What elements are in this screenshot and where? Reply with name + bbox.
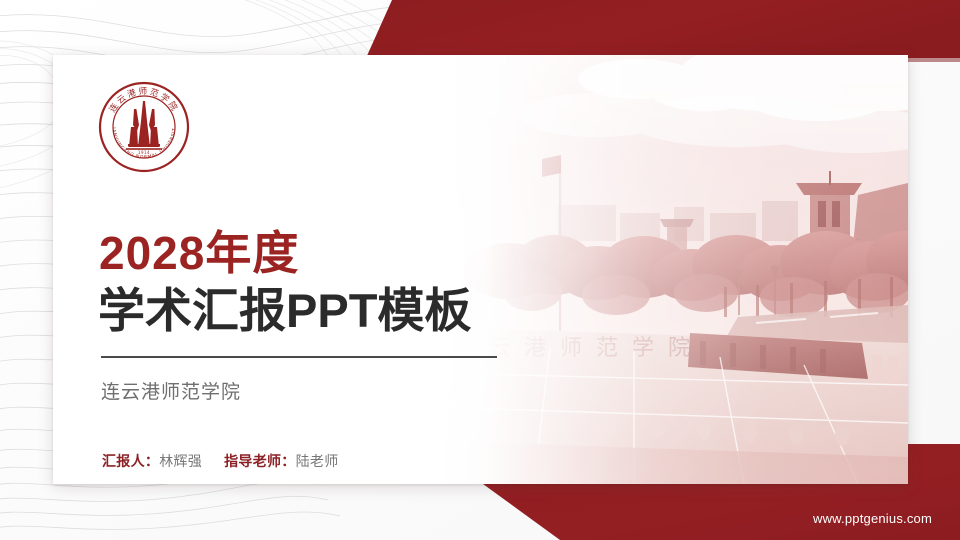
slide-content-card: 连云港师范学院 [53,55,908,484]
title-year: 2028年度 [99,230,299,276]
title-divider [101,356,497,358]
footer-website-url[interactable]: www.pptgenius.com [813,511,932,526]
university-logo-icon: 连云港师范学院 LIANYUNGANG NORMAL UNIVERSITY 19… [98,81,190,173]
credits-line: 汇报人：林辉强指导老师：陆老师 [102,451,339,471]
card-text-content: 连云港师范学院 LIANYUNGANG NORMAL UNIVERSITY 19… [98,55,518,484]
svg-text:1914: 1914 [138,150,150,155]
presenter-label: 汇报人： [102,453,159,469]
subtitle-institution: 连云港师范学院 [101,377,241,404]
advisor-name: 陆老师 [296,453,339,469]
presenter-name: 林辉强 [159,453,202,469]
presentation-slide: 连云港师范学院 [0,0,960,540]
title-main: 学术汇报PPT模板 [98,287,471,334]
advisor-label: 指导老师： [224,453,296,469]
